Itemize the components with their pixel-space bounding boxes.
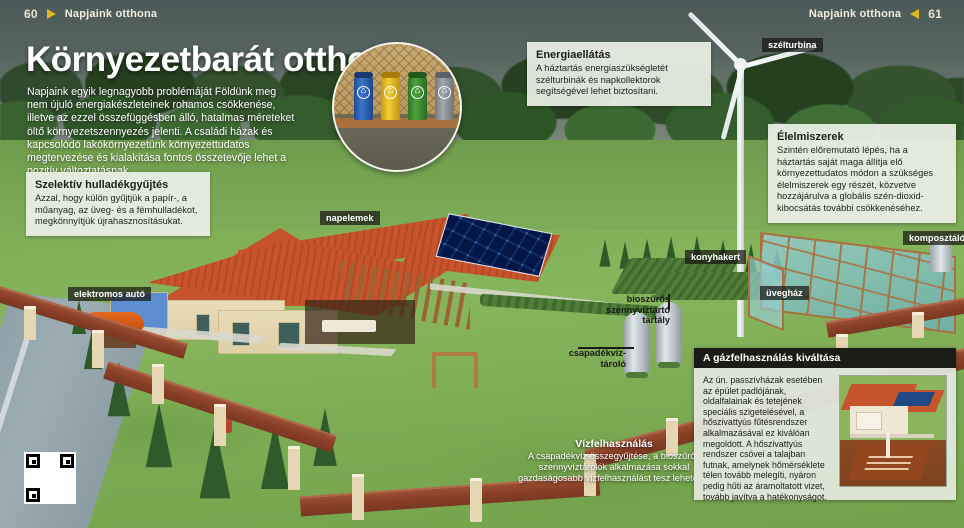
qr-finder-icon — [26, 488, 40, 502]
diagram-floor — [850, 434, 934, 438]
label-line: tároló — [566, 359, 626, 370]
recycle-icon: ♺ — [357, 86, 370, 99]
fence-post — [352, 474, 364, 520]
header-label-right: Napjaink otthona — [809, 8, 901, 20]
fence-post — [214, 404, 226, 446]
callout-title: Energiaellátás — [536, 49, 702, 61]
label-line: szennyvíztartó — [598, 305, 670, 316]
triangle-left-icon — [910, 9, 919, 19]
tag-komposztalo: komposztáló — [903, 231, 964, 245]
tag-elektromos-auto: elektromos autó — [68, 287, 151, 301]
bin-lid — [381, 72, 400, 78]
tag-uveghaz: üvegház — [760, 286, 809, 300]
label-line: bioszűrős — [598, 294, 670, 305]
fence-post — [288, 446, 300, 490]
tag-konyhakert: konyhakert — [685, 250, 746, 264]
label-line: csapadékvíz- — [566, 348, 626, 359]
callout-text: Szintén előremutató lépés, ha a háztartá… — [777, 145, 947, 215]
callout-water-use: Vízfelhasználás A csapadékvíz összegyűjt… — [512, 438, 716, 485]
callout-text: A csapadékvíz összegyűjtése, a bioszűrős… — [512, 451, 716, 485]
diagram-heatpump-coils — [863, 456, 913, 474]
bin-lid — [435, 72, 454, 78]
recycling-bins-photo: ♺ ♺ ♺ ♺ — [332, 42, 462, 172]
recycle-icon: ♺ — [438, 86, 451, 99]
leader-line — [578, 347, 634, 349]
recycle-icon: ♺ — [411, 86, 424, 99]
panel-body: Az ún. passzívházak esetében az épület p… — [694, 368, 956, 508]
recycle-icon: ♺ — [384, 86, 397, 99]
fence-post — [152, 364, 164, 404]
diagram-solar-panel — [893, 392, 935, 406]
conifer-tree — [599, 239, 610, 266]
fence-post — [24, 306, 36, 340]
qr-code[interactable] — [24, 452, 76, 504]
recycling-bin-glass: ♺ — [408, 76, 427, 120]
header-right: Napjaink otthona 61 — [0, 0, 964, 28]
callout-text: Azzal, hogy külön gyűjtjük a papír-, a m… — [35, 193, 201, 228]
panel-title: A gázfelhasználás kiváltása — [694, 348, 956, 368]
panel-gas-replacement: A gázfelhasználás kiváltása Az ún. passz… — [694, 348, 956, 500]
recycling-bin-metal: ♺ — [435, 76, 454, 120]
page-number-right: 61 — [928, 7, 942, 21]
tag-napelemek: napelemek — [320, 211, 380, 225]
qr-finder-icon — [60, 454, 74, 468]
callout-title: Vízfelhasználás — [512, 438, 716, 450]
tag-szelturbina: szélturbina — [762, 38, 823, 52]
fence-post — [470, 478, 482, 522]
bin-lid — [354, 72, 373, 78]
label-rainwater-tank: csapadékvíz- tároló — [566, 348, 626, 369]
label-biofilter-tank: bioszűrős szennyvíztartó tartály — [598, 294, 670, 326]
recycling-bin-plastic: ♺ — [381, 76, 400, 120]
diagram-pipe — [886, 432, 890, 458]
callout-text: A háztartás energiaszükségletét szélturb… — [536, 63, 702, 98]
callout-food: Élelmiszerek Szintén előremutató lépés, … — [768, 124, 956, 223]
magazine-spread: 60 Napjaink otthona Napjaink otthona 61 … — [0, 0, 964, 528]
panel-text: Az ún. passzívházak esetében az épület p… — [703, 375, 833, 502]
fence-post — [92, 330, 104, 368]
leader-line — [668, 294, 670, 310]
conifer-tree — [146, 403, 173, 468]
swing-frame — [432, 352, 478, 388]
intro-paragraph: Napjaink egyik legnagyobb problémáját Fö… — [27, 86, 299, 178]
fence-post — [912, 312, 924, 338]
terrace-furniture — [322, 320, 376, 332]
callout-energy-supply: Energiaellátás A háztartás energiaszüksé… — [527, 42, 711, 106]
callout-title: Szelektív hulladékgyűjtés — [35, 179, 201, 191]
passive-house-heatpump-diagram — [839, 375, 947, 487]
callout-title: Élelmiszerek — [777, 131, 947, 143]
label-line: tartály — [598, 315, 670, 326]
turbine-hub — [734, 58, 747, 71]
diagram-interior — [856, 412, 882, 430]
bin-lid — [408, 72, 427, 78]
callout-waste-collection: Szelektív hulladékgyűjtés Azzal, hogy kü… — [26, 172, 210, 236]
recycling-bin-paper: ♺ — [354, 76, 373, 120]
qr-code-pattern — [26, 454, 74, 502]
qr-finder-icon — [26, 454, 40, 468]
